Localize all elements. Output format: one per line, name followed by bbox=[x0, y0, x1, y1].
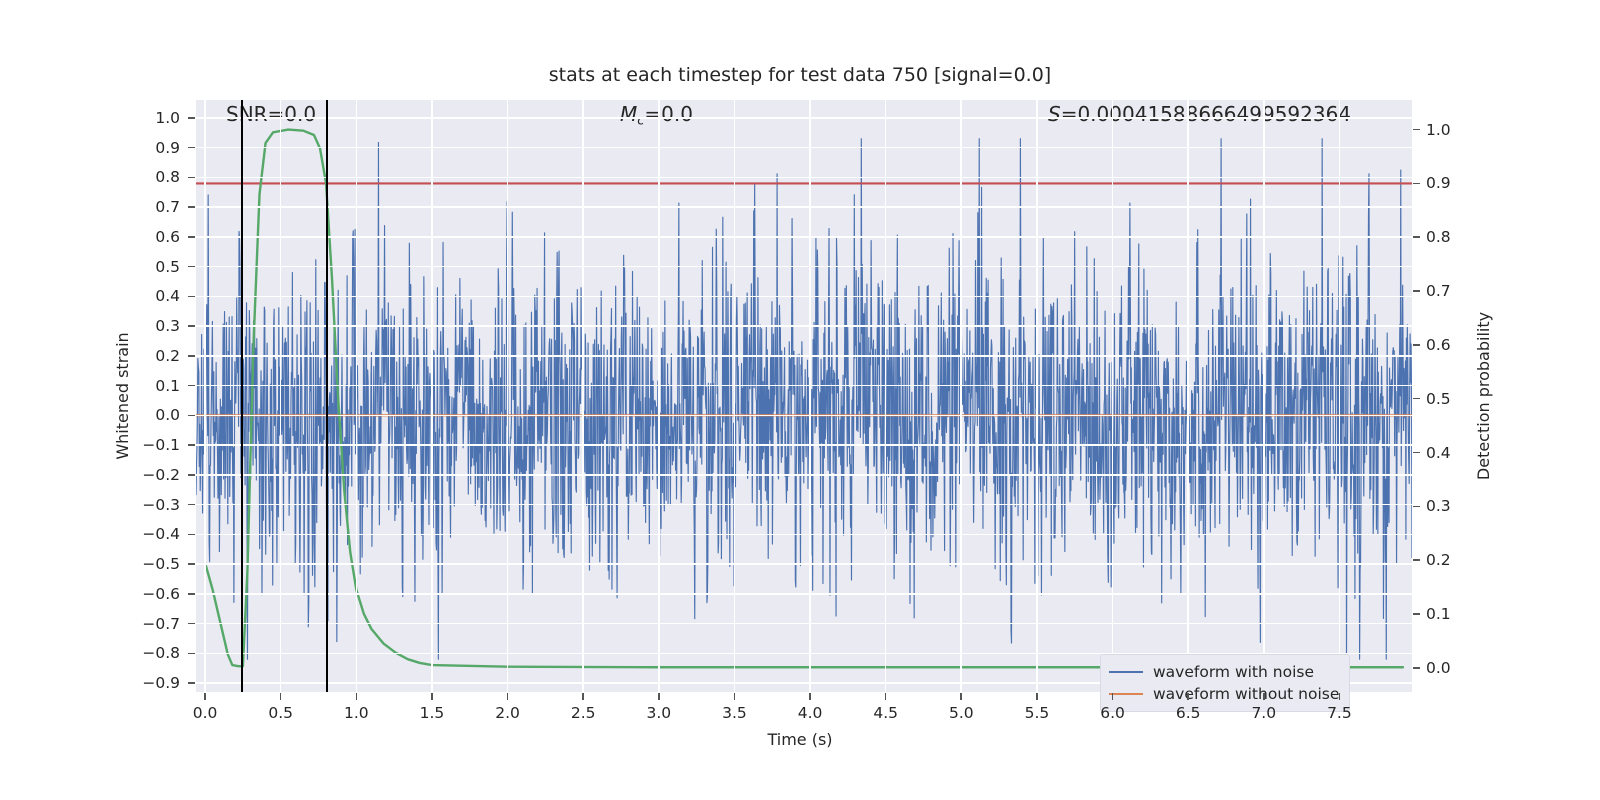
y-tick-label-left: −0.2 bbox=[106, 466, 180, 484]
y-tick-label-left: 0.4 bbox=[106, 287, 180, 305]
grid-line-horizontal bbox=[196, 444, 1412, 446]
y-tick-left bbox=[188, 355, 195, 357]
legend-label: waveform with noise bbox=[1153, 663, 1314, 681]
legend-item[interactable]: waveform with noise bbox=[1109, 661, 1339, 683]
chart-title: stats at each timestep for test data 750… bbox=[0, 64, 1600, 86]
y-tick-label-right: 0.5 bbox=[1426, 390, 1451, 408]
grid-line-vertical bbox=[431, 100, 433, 692]
grid-line-vertical bbox=[809, 100, 811, 692]
grid-line-horizontal bbox=[196, 266, 1412, 268]
grid-line-horizontal bbox=[196, 385, 1412, 387]
grid-line-vertical bbox=[1187, 100, 1189, 692]
grid-line-vertical bbox=[960, 100, 962, 692]
y-tick-label-left: 0.0 bbox=[106, 406, 180, 424]
y-tick-left bbox=[188, 504, 195, 506]
y-tick-right bbox=[1413, 452, 1420, 454]
grid-line-vertical bbox=[1112, 100, 1114, 692]
legend-swatch-waveform-without-noise bbox=[1109, 693, 1143, 695]
x-tick-label: 1.0 bbox=[344, 704, 369, 722]
legend: waveform with noise waveform without noi… bbox=[1100, 654, 1350, 712]
grid-line-vertical bbox=[1339, 100, 1341, 692]
y-tick-left bbox=[188, 682, 195, 684]
grid-line-horizontal bbox=[196, 117, 1412, 119]
x-tick bbox=[809, 693, 811, 700]
signal-window-marker bbox=[326, 100, 329, 692]
grid-line-vertical bbox=[204, 100, 206, 692]
x-tick bbox=[960, 693, 962, 700]
s-symbol: S bbox=[1048, 102, 1061, 126]
y-tick-left bbox=[188, 206, 195, 208]
y-tick-right bbox=[1413, 613, 1420, 615]
y-tick-right bbox=[1413, 559, 1420, 561]
y-tick-left bbox=[188, 444, 195, 446]
x-tick-label: 3.5 bbox=[722, 704, 747, 722]
y-tick-label-right: 0.9 bbox=[1426, 174, 1451, 192]
y-tick-right bbox=[1413, 398, 1420, 400]
y-tick-label-left: 0.9 bbox=[106, 139, 180, 157]
mc-symbol: M bbox=[620, 102, 637, 126]
y-tick-left bbox=[188, 534, 195, 536]
x-tick bbox=[734, 693, 736, 700]
x-axis-title: Time (s) bbox=[0, 730, 1600, 749]
y-tick-left bbox=[188, 296, 195, 298]
x-tick bbox=[1339, 693, 1341, 700]
grid-line-horizontal bbox=[196, 534, 1412, 536]
grid-line-vertical bbox=[658, 100, 660, 692]
y-tick-label-left: −0.5 bbox=[106, 555, 180, 573]
grid-line-horizontal bbox=[196, 236, 1412, 238]
grid-line-horizontal bbox=[196, 296, 1412, 298]
y-tick-label-left: 1.0 bbox=[106, 109, 180, 127]
grid-line-horizontal bbox=[196, 325, 1412, 327]
x-tick-label: 6.0 bbox=[1100, 704, 1125, 722]
grid-line-horizontal bbox=[196, 415, 1412, 417]
x-tick bbox=[1187, 693, 1189, 700]
y-tick-label-left: −0.1 bbox=[106, 436, 180, 454]
grid-line-horizontal bbox=[196, 504, 1412, 506]
y-tick-label-left: 0.1 bbox=[106, 377, 180, 395]
y-tick-label-left: 0.2 bbox=[106, 347, 180, 365]
y-tick-left bbox=[188, 593, 195, 595]
y-tick-right bbox=[1413, 506, 1420, 508]
y-tick-label-right: 0.1 bbox=[1426, 605, 1451, 623]
y-tick-label-left: −0.3 bbox=[106, 496, 180, 514]
grid-line-horizontal bbox=[196, 623, 1412, 625]
mc-value: =0.0 bbox=[644, 102, 693, 126]
y-tick-label-left: 0.3 bbox=[106, 317, 180, 335]
grid-line-vertical bbox=[280, 100, 282, 692]
y-tick-label-left: 0.8 bbox=[106, 168, 180, 186]
y-tick-label-left: −0.6 bbox=[106, 585, 180, 603]
y-tick-left bbox=[188, 385, 195, 387]
y-tick-label-left: −0.8 bbox=[106, 644, 180, 662]
x-tick-label: 7.5 bbox=[1327, 704, 1352, 722]
y-tick-left bbox=[188, 653, 195, 655]
grid-line-vertical bbox=[734, 100, 736, 692]
annotation-chirp-mass: Mc=0.0 bbox=[620, 102, 693, 128]
x-tick-label: 3.0 bbox=[646, 704, 671, 722]
x-tick-label: 5.5 bbox=[1025, 704, 1050, 722]
grid-line-vertical bbox=[1263, 100, 1265, 692]
x-tick-label: 7.0 bbox=[1251, 704, 1276, 722]
y-tick-left bbox=[188, 325, 195, 327]
y-tick-left bbox=[188, 117, 195, 119]
y-tick-right bbox=[1413, 667, 1420, 669]
y-tick-label-right: 0.2 bbox=[1426, 551, 1451, 569]
grid-line-vertical bbox=[356, 100, 358, 692]
grid-line-horizontal bbox=[196, 355, 1412, 357]
y-axis-title-right: Detection probability bbox=[1474, 312, 1493, 480]
plot-area[interactable]: SNR=0.0 Mc=0.0 S=0.00041588666499592364 bbox=[196, 100, 1412, 692]
y-tick-label-left: 0.7 bbox=[106, 198, 180, 216]
y-tick-right bbox=[1413, 344, 1420, 346]
annotation-snr: SNR=0.0 bbox=[226, 102, 316, 126]
grid-line-horizontal bbox=[196, 593, 1412, 595]
y-tick-label-right: 0.0 bbox=[1426, 659, 1451, 677]
x-tick bbox=[356, 693, 358, 700]
x-tick-label: 0.5 bbox=[268, 704, 293, 722]
y-tick-label-left: 0.6 bbox=[106, 228, 180, 246]
y-tick-left bbox=[188, 563, 195, 565]
y-tick-label-right: 0.6 bbox=[1426, 336, 1451, 354]
legend-swatch-waveform-with-noise bbox=[1109, 671, 1143, 673]
signal-window-marker bbox=[241, 100, 244, 692]
y-tick-left bbox=[188, 415, 195, 417]
grid-line-horizontal bbox=[196, 177, 1412, 179]
x-tick bbox=[280, 693, 282, 700]
x-tick-label: 6.5 bbox=[1176, 704, 1201, 722]
grid-line-vertical bbox=[582, 100, 584, 692]
figure-canvas: stats at each timestep for test data 750… bbox=[0, 0, 1600, 800]
x-tick bbox=[507, 693, 509, 700]
y-tick-right bbox=[1413, 290, 1420, 292]
grid-line-vertical bbox=[1036, 100, 1038, 692]
y-tick-left bbox=[188, 474, 195, 476]
y-tick-left bbox=[188, 266, 195, 268]
x-tick-label: 0.0 bbox=[193, 704, 218, 722]
x-tick-label: 5.0 bbox=[949, 704, 974, 722]
y-tick-left bbox=[188, 236, 195, 238]
y-tick-label-left: −0.4 bbox=[106, 525, 180, 543]
y-tick-label-left: −0.9 bbox=[106, 674, 180, 692]
y-tick-right bbox=[1413, 183, 1420, 185]
y-tick-label-left: 0.5 bbox=[106, 258, 180, 276]
grid-line-horizontal bbox=[196, 474, 1412, 476]
annotation-s-statistic: S=0.00041588666499592364 bbox=[1048, 102, 1351, 126]
legend-item[interactable]: waveform without noise bbox=[1109, 683, 1339, 705]
x-tick-label: 4.0 bbox=[798, 704, 823, 722]
y-tick-left bbox=[188, 623, 195, 625]
y-tick-right bbox=[1413, 129, 1420, 131]
x-tick-label: 1.5 bbox=[420, 704, 445, 722]
x-tick bbox=[885, 693, 887, 700]
y-tick-right bbox=[1413, 236, 1420, 238]
x-tick bbox=[658, 693, 660, 700]
s-value: =0.00041588666499592364 bbox=[1061, 102, 1351, 126]
x-tick bbox=[431, 693, 433, 700]
y-tick-left bbox=[188, 177, 195, 179]
y-tick-left bbox=[188, 147, 195, 149]
x-tick bbox=[204, 693, 206, 700]
y-tick-label-right: 0.4 bbox=[1426, 444, 1451, 462]
x-tick bbox=[1112, 693, 1114, 700]
x-tick-label: 4.5 bbox=[873, 704, 898, 722]
grid-line-horizontal bbox=[196, 147, 1412, 149]
y-tick-label-left: −0.7 bbox=[106, 615, 180, 633]
grid-line-horizontal bbox=[196, 563, 1412, 565]
x-tick bbox=[1263, 693, 1265, 700]
grid-line-vertical bbox=[885, 100, 887, 692]
x-tick bbox=[1036, 693, 1038, 700]
y-tick-label-right: 0.7 bbox=[1426, 282, 1451, 300]
grid-line-horizontal bbox=[196, 206, 1412, 208]
y-tick-label-right: 0.3 bbox=[1426, 497, 1451, 515]
y-tick-label-right: 1.0 bbox=[1426, 121, 1451, 139]
x-tick-label: 2.5 bbox=[571, 704, 596, 722]
grid-line-vertical bbox=[507, 100, 509, 692]
x-tick-label: 2.0 bbox=[495, 704, 520, 722]
plot-svg bbox=[196, 100, 1412, 692]
y-tick-label-right: 0.8 bbox=[1426, 228, 1451, 246]
legend-label: waveform without noise bbox=[1153, 685, 1339, 703]
x-tick bbox=[582, 693, 584, 700]
series-waveform-with-noise bbox=[196, 139, 1412, 660]
